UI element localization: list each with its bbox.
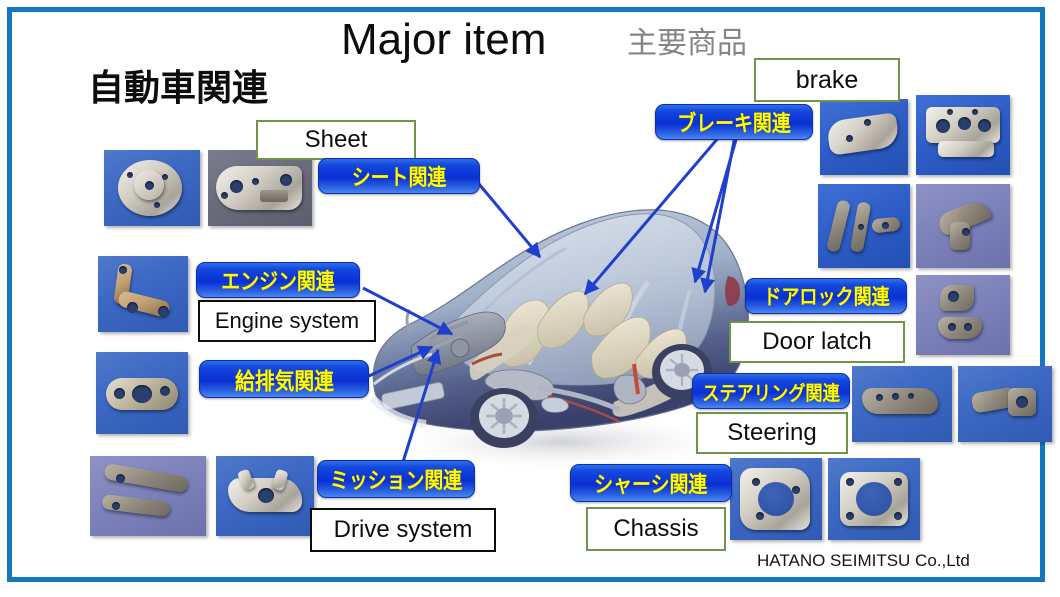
company-footer: HATANO SEIMITSU Co.,Ltd	[757, 551, 970, 571]
door-latch-claw-photo	[852, 366, 952, 442]
badge-text-chassis: シャーシ関連	[594, 467, 707, 499]
chassis-flange-b-photo	[828, 458, 920, 540]
badge-mission[interactable]: ミッション関連	[317, 460, 475, 498]
seat-recliner-part-photo	[208, 150, 312, 226]
brake-caliper-bracket-photo	[820, 99, 908, 175]
badge-text-intake-exhaust: 給排気関連	[235, 362, 334, 396]
brake-cam-part-photo	[916, 184, 1010, 268]
label-text-drive-system: Drive system	[334, 516, 473, 544]
badge-text-mission: ミッション関連	[330, 463, 462, 495]
badge-intake-exhaust[interactable]: 給排気関連	[199, 360, 369, 398]
brake-mounting-plate-photo	[916, 95, 1010, 175]
label-box-brake: brake	[754, 58, 900, 102]
label-box-drive-system: Drive system	[310, 508, 496, 552]
badge-engine[interactable]: エンジン関連	[196, 262, 360, 298]
page-title-jp: 主要商品	[627, 25, 747, 63]
label-text-brake: brake	[796, 66, 859, 95]
drive-system-star-part-photo	[216, 456, 314, 536]
label-text-sheet: Sheet	[305, 126, 368, 154]
badge-text-brake: ブレーキ関連	[677, 106, 791, 138]
steering-yoke-photo	[958, 366, 1052, 442]
section-subtitle-jp: 自動車関連	[88, 66, 268, 112]
badge-text-door-lock: ドアロック関連	[763, 281, 889, 311]
badge-chassis[interactable]: シャーシ関連	[570, 464, 732, 502]
label-box-sheet: Sheet	[256, 120, 416, 160]
intake-flange-part-photo	[96, 352, 188, 434]
label-box-engine: Engine system	[198, 300, 376, 342]
badge-text-sheet: シート関連	[352, 160, 447, 192]
badge-steering[interactable]: ステアリング関連	[692, 373, 850, 409]
label-text-steering: Steering	[727, 419, 816, 447]
badge-door-lock[interactable]: ドアロック関連	[745, 278, 907, 314]
page-title: Major item	[341, 14, 546, 66]
badge-brake[interactable]: ブレーキ関連	[655, 104, 813, 140]
badge-sheet[interactable]: シート関連	[318, 158, 480, 194]
drive-system-levers-photo	[90, 456, 206, 536]
seat-gear-part-photo	[104, 150, 200, 226]
badge-text-engine: エンジン関連	[221, 264, 335, 296]
badge-text-steering: ステアリング関連	[702, 377, 840, 406]
label-box-chassis: Chassis	[586, 507, 726, 551]
label-text-door-latch: Door latch	[762, 328, 871, 356]
chassis-flange-a-photo	[730, 458, 822, 540]
slide-canvas: Major item 主要商品 自動車関連 HATANO SEIMITSU Co…	[0, 0, 1060, 597]
door-latch-pawl-photo	[916, 275, 1010, 355]
label-text-chassis: Chassis	[613, 515, 698, 543]
label-box-door-latch: Door latch	[729, 321, 905, 363]
engine-bracket-part-photo	[98, 256, 188, 332]
brake-lever-set-photo	[818, 184, 910, 268]
label-text-engine: Engine system	[215, 308, 359, 334]
label-box-steering: Steering	[696, 412, 848, 454]
